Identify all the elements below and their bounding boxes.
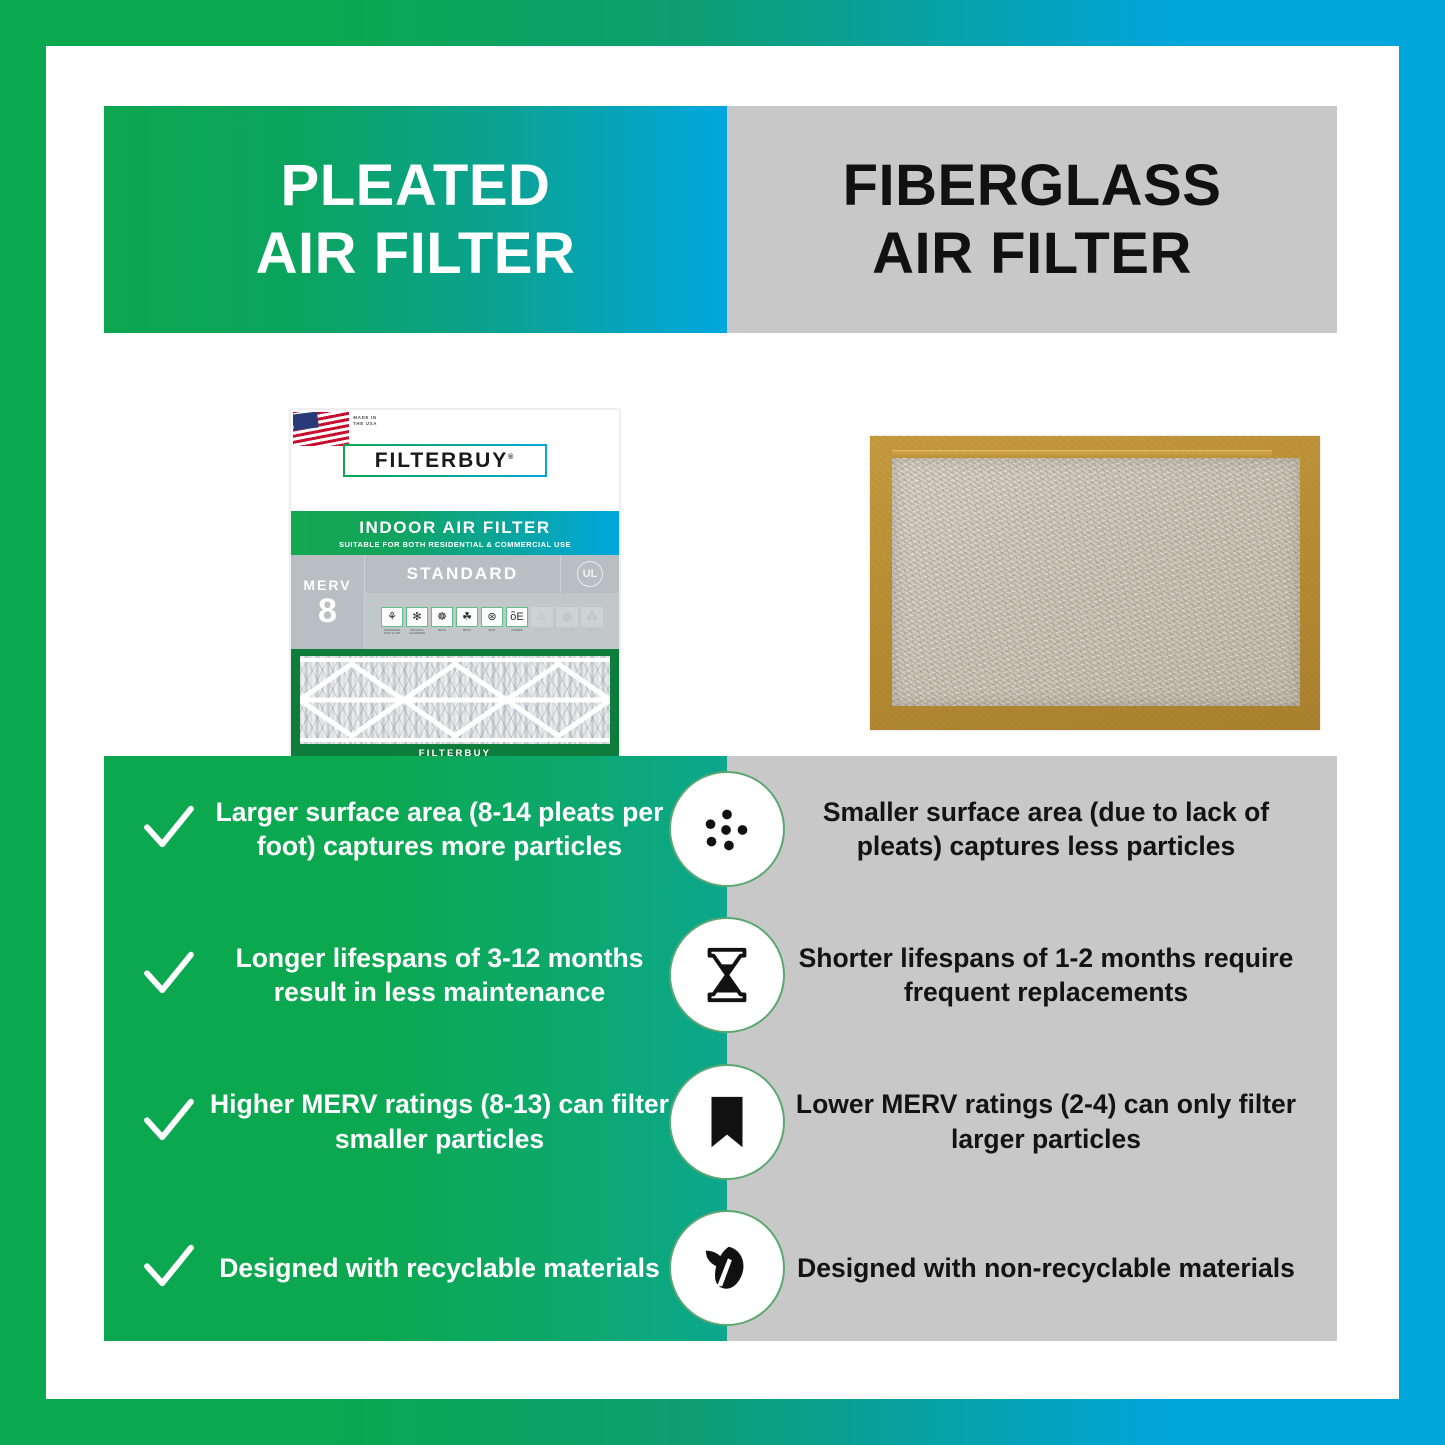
header-pleated: PLEATED AIR FILTER bbox=[104, 106, 727, 333]
header-pleated-title: PLEATED AIR FILTER bbox=[256, 152, 576, 287]
fiberglass-filter-image bbox=[870, 436, 1320, 730]
spec-right-column: STANDARD UL ⚘HOUSEHOLD DUST & LINT✻POLLE… bbox=[365, 555, 619, 649]
comparison-row: Designed with recyclable materialsDesign… bbox=[104, 1195, 1337, 1341]
header-fiberglass-title: FIBERGLASS AIR FILTER bbox=[843, 152, 1222, 287]
pet-dander-icon-glyph: ὃE bbox=[506, 607, 528, 627]
mold-icon-caption: MOLD bbox=[438, 629, 446, 632]
fiberglass-drawback-text: Designed with non-recyclable materials bbox=[789, 1251, 1303, 1285]
pollen-icon: ✻POLLEN & ALLERGENS bbox=[406, 607, 428, 635]
comparison-left-cell: Higher MERV ratings (8-13) can filter sm… bbox=[104, 1087, 727, 1156]
bacteria-icon-glyph: ⊛ bbox=[481, 607, 503, 627]
pollen-icon-caption: POLLEN & ALLERGENS bbox=[406, 629, 428, 635]
white-canvas: PLEATED AIR FILTER FIBERGLASS AIR FILTER bbox=[46, 46, 1399, 1399]
package-color-band: INDOOR AIR FILTER SUITABLE FOR BOTH RESI… bbox=[291, 511, 619, 555]
pleated-benefit-text: Designed with recyclable materials bbox=[202, 1251, 721, 1285]
package-top-section: MADE IN THE USA FILTERBUY® bbox=[291, 410, 619, 511]
ul-certification-icon: UL bbox=[577, 561, 603, 587]
smoke-icon-glyph: ♨ bbox=[531, 607, 553, 627]
particles-icon bbox=[669, 771, 785, 887]
pet-dander-icon-caption: DANDER bbox=[511, 629, 522, 632]
band-main-text: INDOOR AIR FILTER bbox=[359, 518, 551, 538]
usa-flag-icon bbox=[293, 412, 349, 446]
frame-top-lip bbox=[892, 450, 1272, 458]
comparison-right-cell: Shorter lifespans of 1-2 months require … bbox=[727, 941, 1337, 1010]
fiberglass-drawback-text: Lower MERV ratings (2-4) can only filter… bbox=[789, 1087, 1303, 1156]
bacteria-off-icon-glyph: ◍ bbox=[556, 607, 578, 627]
brand-trademark: ® bbox=[508, 454, 515, 461]
merv-value: 8 bbox=[318, 594, 337, 628]
fiberglass-drawback-text: Smaller surface area (due to lack of ple… bbox=[789, 795, 1303, 864]
comparison-row: Higher MERV ratings (8-13) can filter sm… bbox=[104, 1049, 1337, 1195]
header-fiberglass-line1: FIBERGLASS bbox=[843, 152, 1222, 219]
support-mesh-icon bbox=[300, 656, 610, 744]
band-sub-text: SUITABLE FOR BOTH RESIDENTIAL & COMMERCI… bbox=[339, 540, 571, 549]
comparison-left-cell: Designed with recyclable materials bbox=[104, 1241, 727, 1295]
comparison-right-cell: Lower MERV ratings (2-4) can only filter… bbox=[727, 1087, 1337, 1156]
brand-name: FILTERBUY® bbox=[375, 449, 515, 473]
comparison-rows: Larger surface area (8-14 pleats per foo… bbox=[104, 756, 1337, 1341]
header-bars: PLEATED AIR FILTER FIBERGLASS AIR FILTER bbox=[104, 106, 1337, 333]
checkmark-icon bbox=[136, 1241, 202, 1295]
dust-lint-icon-caption: HOUSEHOLD DUST & LINT bbox=[381, 629, 403, 635]
checkmark-icon bbox=[136, 802, 202, 856]
smoke-icon-caption: SMOKE bbox=[537, 629, 547, 632]
merv-label: MERV bbox=[303, 577, 351, 593]
smoke-icon: ♨SMOKE bbox=[531, 607, 553, 635]
mold-icon-glyph: ☸ bbox=[431, 607, 453, 627]
bacteria-icon-caption: DUST bbox=[488, 629, 495, 632]
pollen-icon-glyph: ✻ bbox=[406, 607, 428, 627]
pleated-media-photo: FILTERBUY bbox=[291, 649, 619, 760]
made-in-line2: THE USA bbox=[353, 421, 377, 427]
header-fiberglass: FIBERGLASS AIR FILTER bbox=[727, 106, 1337, 333]
virus-off-icon: ⁂VIRUS bbox=[581, 607, 603, 635]
brand-logo-box: FILTERBUY® bbox=[343, 444, 547, 477]
comparison-panel: Larger surface area (8-14 pleats per foo… bbox=[104, 756, 1337, 1341]
mold-icon: ☸MOLD bbox=[431, 607, 453, 635]
pleated-benefit-text: Higher MERV ratings (8-13) can filter sm… bbox=[202, 1087, 721, 1156]
comparison-right-cell: Designed with non-recyclable materials bbox=[727, 1251, 1337, 1285]
grade-label: STANDARD bbox=[365, 555, 561, 593]
virus-off-icon-caption: VIRUS bbox=[588, 629, 596, 632]
comparison-left-cell: Longer lifespans of 3-12 months result i… bbox=[104, 941, 727, 1010]
dust-lint-icon-glyph: ⚘ bbox=[381, 607, 403, 627]
dust-mites-icon-caption: MITES bbox=[463, 629, 471, 632]
header-pleated-line1: PLEATED bbox=[256, 152, 576, 219]
comparison-left-cell: Larger surface area (8-14 pleats per foo… bbox=[104, 795, 727, 864]
bacteria-icon: ⊛DUST bbox=[481, 607, 503, 635]
dust-mites-icon-glyph: ☘ bbox=[456, 607, 478, 627]
certification-cell: UL bbox=[561, 555, 619, 593]
checkmark-icon bbox=[136, 1095, 202, 1149]
bookmark-icon bbox=[669, 1064, 785, 1180]
pet-dander-icon: ὃEDANDER bbox=[506, 607, 528, 635]
merv-rating-cell: MERV 8 bbox=[291, 555, 365, 649]
made-in-usa-label: MADE IN THE USA bbox=[353, 415, 377, 428]
pleated-filter-package-image: MADE IN THE USA FILTERBUY® INDOOR AIR FI… bbox=[290, 409, 620, 760]
infographic-page: PLEATED AIR FILTER FIBERGLASS AIR FILTER bbox=[0, 0, 1445, 1445]
header-pleated-line2: AIR FILTER bbox=[256, 220, 576, 287]
fiberglass-mesh-texture bbox=[892, 458, 1300, 706]
leaf-icon bbox=[669, 1210, 785, 1326]
comparison-row: Longer lifespans of 3-12 months result i… bbox=[104, 902, 1337, 1048]
fiberglass-drawback-text: Shorter lifespans of 1-2 months require … bbox=[789, 941, 1303, 1010]
virus-off-icon-glyph: ⁂ bbox=[581, 607, 603, 627]
header-fiberglass-line2: AIR FILTER bbox=[843, 220, 1222, 287]
pleated-benefit-text: Longer lifespans of 3-12 months result i… bbox=[202, 941, 721, 1010]
spec-top-row: STANDARD UL bbox=[365, 555, 619, 593]
bacteria-off-icon: ◍BACTERIA bbox=[556, 607, 578, 635]
product-images-area: MADE IN THE USA FILTERBUY® INDOOR AIR FI… bbox=[104, 333, 1337, 756]
comparison-row: Larger surface area (8-14 pleats per foo… bbox=[104, 756, 1337, 902]
package-spec-row: MERV 8 STANDARD UL ⚘HOUSEHOLD DUST & LIN… bbox=[291, 555, 619, 649]
dust-lint-icon: ⚘HOUSEHOLD DUST & LINT bbox=[381, 607, 403, 635]
hourglass-icon bbox=[669, 917, 785, 1033]
pleat-texture bbox=[300, 656, 610, 744]
dust-mites-icon: ☘MITES bbox=[456, 607, 478, 635]
feature-icon-strip: ⚘HOUSEHOLD DUST & LINT✻POLLEN & ALLERGEN… bbox=[365, 593, 619, 649]
comparison-right-cell: Smaller surface area (due to lack of ple… bbox=[727, 795, 1337, 864]
pleated-benefit-text: Larger surface area (8-14 pleats per foo… bbox=[202, 795, 721, 864]
checkmark-icon bbox=[136, 948, 202, 1002]
bacteria-off-icon-caption: BACTERIA bbox=[560, 629, 573, 632]
